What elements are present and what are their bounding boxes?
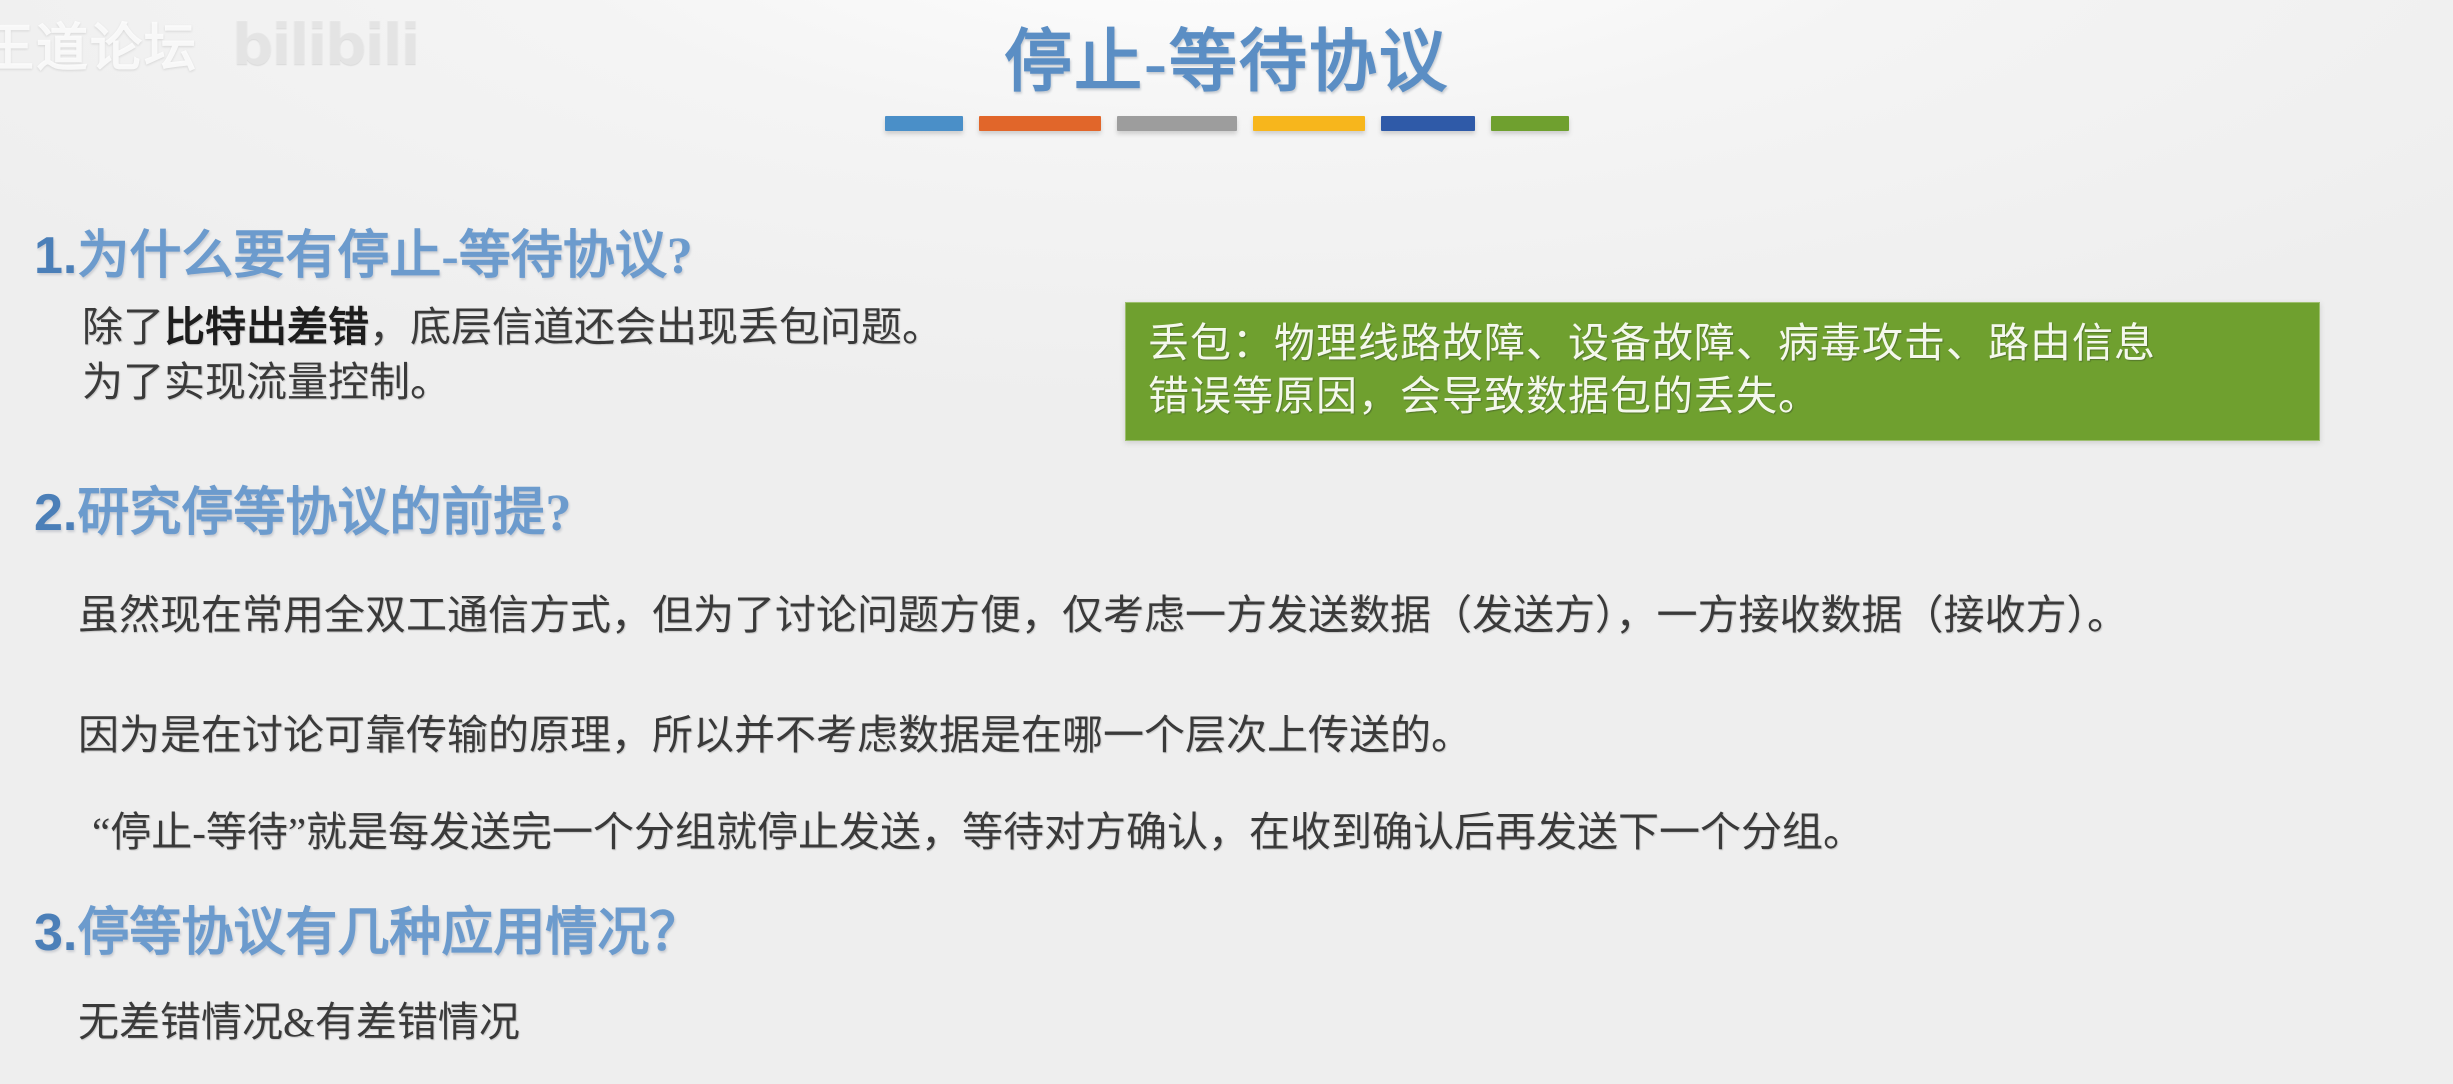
section-heading-3: 3.停等协议有几种应用情况？	[34, 890, 701, 965]
bar-green	[1491, 116, 1569, 131]
paragraph-reliable-transfer: 因为是在讨论可靠传输的原理，所以并不考虑数据是在哪一个层次上传送的。	[78, 708, 2368, 763]
section-title-2: 研究停等协议的前提?	[77, 485, 571, 542]
section-heading-1: 1.为什么要有停止-等待协议?	[34, 213, 693, 288]
paragraph-bit-error-emphasis: 比特出差错	[164, 304, 369, 350]
section-number-3: 3.	[34, 904, 77, 962]
bar-amber	[1253, 116, 1365, 131]
paragraph-bit-error-suffix: ，底层信道还会出现丢包问题。	[369, 304, 943, 350]
paragraph-full-duplex-text: 虽然现在常用全双工通信方式，但为了讨论问题方便，仅考虑一方发送数据（发送方），一…	[78, 588, 2368, 643]
page-title: 停止-等待协议	[0, 22, 2453, 102]
paragraph-bit-error: 除了比特出差错，底层信道还会出现丢包问题。 为了实现流量控制。	[82, 300, 1082, 409]
title-block: 停止-等待协议	[0, 22, 2453, 131]
bar-dark-blue	[1381, 116, 1475, 131]
packet-loss-callout-line1: 丢包：物理线路故障、设备故障、病毒攻击、路由信息	[1148, 317, 2301, 370]
paragraph-two-cases: 无差错情况&有差错情况	[78, 995, 1278, 1050]
paragraph-stop-and-wait-definition: “停止-等待”就是每发送完一个分组就停止发送，等待对方确认，在收到确认后再发送下…	[92, 805, 2392, 860]
packet-loss-callout: 丢包：物理线路故障、设备故障、病毒攻击、路由信息 错误等原因，会导致数据包的丢失…	[1125, 302, 2320, 441]
section-title-3: 停等协议有几种应用情况？	[77, 905, 701, 962]
paragraph-full-duplex: 虽然现在常用全双工通信方式，但为了讨论问题方便，仅考虑一方发送数据（发送方），一…	[78, 588, 2368, 643]
section-heading-2: 2.研究停等协议的前提?	[34, 470, 571, 545]
packet-loss-callout-line2: 错误等原因，会导致数据包的丢失。	[1148, 370, 2301, 423]
bar-gray	[1117, 116, 1237, 131]
accent-bar-row	[0, 116, 2453, 131]
paragraph-bit-error-prefix: 除了	[82, 304, 164, 350]
section-title-1: 为什么要有停止-等待协议?	[77, 228, 692, 285]
section-number-1: 1.	[34, 227, 77, 285]
presentation-slide: 王道论坛 bilibili 停止-等待协议 1.为什么要有停止-等待协议? 除了…	[0, 0, 2453, 1084]
section-number-2: 2.	[34, 484, 77, 542]
bar-orange	[979, 116, 1101, 131]
paragraph-bit-error-line2: 为了实现流量控制。	[82, 359, 451, 405]
bar-light-blue	[885, 116, 963, 131]
